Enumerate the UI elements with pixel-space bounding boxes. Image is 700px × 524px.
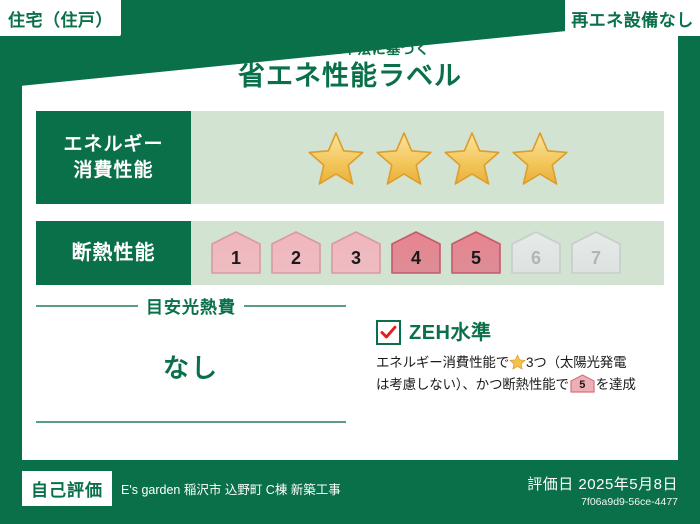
insulation-level-number: 4 [389, 249, 443, 267]
star-icon [511, 130, 569, 186]
estimated-utility-cost-header: 目安光熱費 [36, 293, 346, 318]
insulation-level-7: 7 [569, 230, 623, 276]
zeh-standard-header: ZEH水準 [376, 320, 668, 345]
insulation-level-1: 1 [209, 230, 263, 276]
star-icon [307, 130, 365, 186]
energy-consumption-label-line2: 消費性能 [73, 158, 153, 184]
footer-left: 自己評価 E's garden 稲沢市 込野町 C棟 新築工事 [22, 471, 341, 506]
insulation-level-number: 5 [449, 249, 503, 267]
project-name: E's garden 稲沢市 込野町 C棟 新築工事 [121, 479, 341, 498]
zeh-desc-part2: は考慮しない）、かつ断熱性能で [376, 377, 569, 392]
star-icon [443, 130, 501, 186]
insulation-level-number: 3 [329, 249, 383, 267]
insulation-level-3: 3 [329, 230, 383, 276]
estimated-utility-cost-value: なし [36, 348, 346, 385]
house-badge-number: 5 [570, 380, 595, 391]
zeh-desc-stars: 3つ（太陽光発電 [526, 355, 626, 370]
evaluation-id: 7f06a9d9-56ce-4477 [527, 496, 678, 508]
self-evaluation-badge: 自己評価 [22, 471, 112, 506]
insulation-level-number: 2 [269, 249, 323, 267]
insulation-performance-label-line1: 断熱性能 [72, 240, 156, 267]
energy-performance-label: 住宅（住戸） 再エネ設備なし 建築物省エネ法に基づく 省エネ性能ラベル エネルギ… [0, 0, 700, 524]
star-rating [307, 130, 569, 186]
star-icon [509, 354, 526, 370]
insulation-level-2: 2 [269, 230, 323, 276]
energy-consumption-label: エネルギー 消費性能 [36, 111, 191, 204]
house-badge-icon: 5 [570, 374, 595, 393]
renewable-equipment-tag: 再エネ設備なし [565, 0, 700, 36]
energy-consumption-value [191, 111, 664, 204]
cost-rule-right [244, 305, 346, 307]
star-icon [375, 130, 433, 186]
insulation-performance-value: 1234567 [191, 221, 664, 285]
cost-rule-left [36, 305, 138, 307]
insulation-level-5: 5 [449, 230, 503, 276]
insulation-level-number: 1 [209, 249, 263, 267]
zeh-standard-title: ZEH水準 [409, 323, 492, 343]
evaluation-date: 評価日 2025年5月8日 [527, 473, 678, 494]
zeh-desc-part3: を達成 [596, 377, 636, 392]
insulation-level-number: 7 [569, 249, 623, 267]
title-subtitle: 建築物省エネ法に基づく [0, 42, 700, 56]
checkmark-icon [376, 320, 401, 345]
zeh-desc-part1: エネルギー消費性能で [376, 355, 509, 370]
zeh-standard-description: エネルギー消費性能で3つ（太陽光発電は考慮しない）、かつ断熱性能で5を達成 [376, 352, 668, 397]
insulation-performance-label: 断熱性能 [36, 221, 191, 285]
page-title: 省エネ性能ラベル [0, 60, 700, 94]
estimated-utility-cost-block: 目安光熱費 なし [36, 293, 346, 423]
energy-consumption-row: エネルギー 消費性能 [36, 111, 664, 204]
zeh-standard-block: ZEH水準 エネルギー消費性能で3つ（太陽光発電は考慮しない）、かつ断熱性能で5… [376, 320, 668, 397]
cost-rule-bottom [36, 421, 346, 423]
label-title-block: 建築物省エネ法に基づく 省エネ性能ラベル [0, 42, 700, 94]
energy-consumption-label-line1: エネルギー [63, 132, 163, 158]
footer-right: 評価日 2025年5月8日 7f06a9d9-56ce-4477 [527, 473, 678, 508]
insulation-level-6: 6 [509, 230, 563, 276]
building-type-tag-label: 住宅（住戸） [8, 6, 113, 31]
estimated-utility-cost-caption: 目安光熱費 [146, 293, 236, 318]
insulation-level-scale: 1234567 [209, 230, 623, 276]
insulation-performance-row: 断熱性能 1234567 [36, 221, 664, 285]
insulation-level-number: 6 [509, 249, 563, 267]
insulation-level-4: 4 [389, 230, 443, 276]
building-type-tag: 住宅（住戸） [0, 0, 121, 36]
renewable-equipment-tag-label: 再エネ設備なし [571, 6, 694, 31]
